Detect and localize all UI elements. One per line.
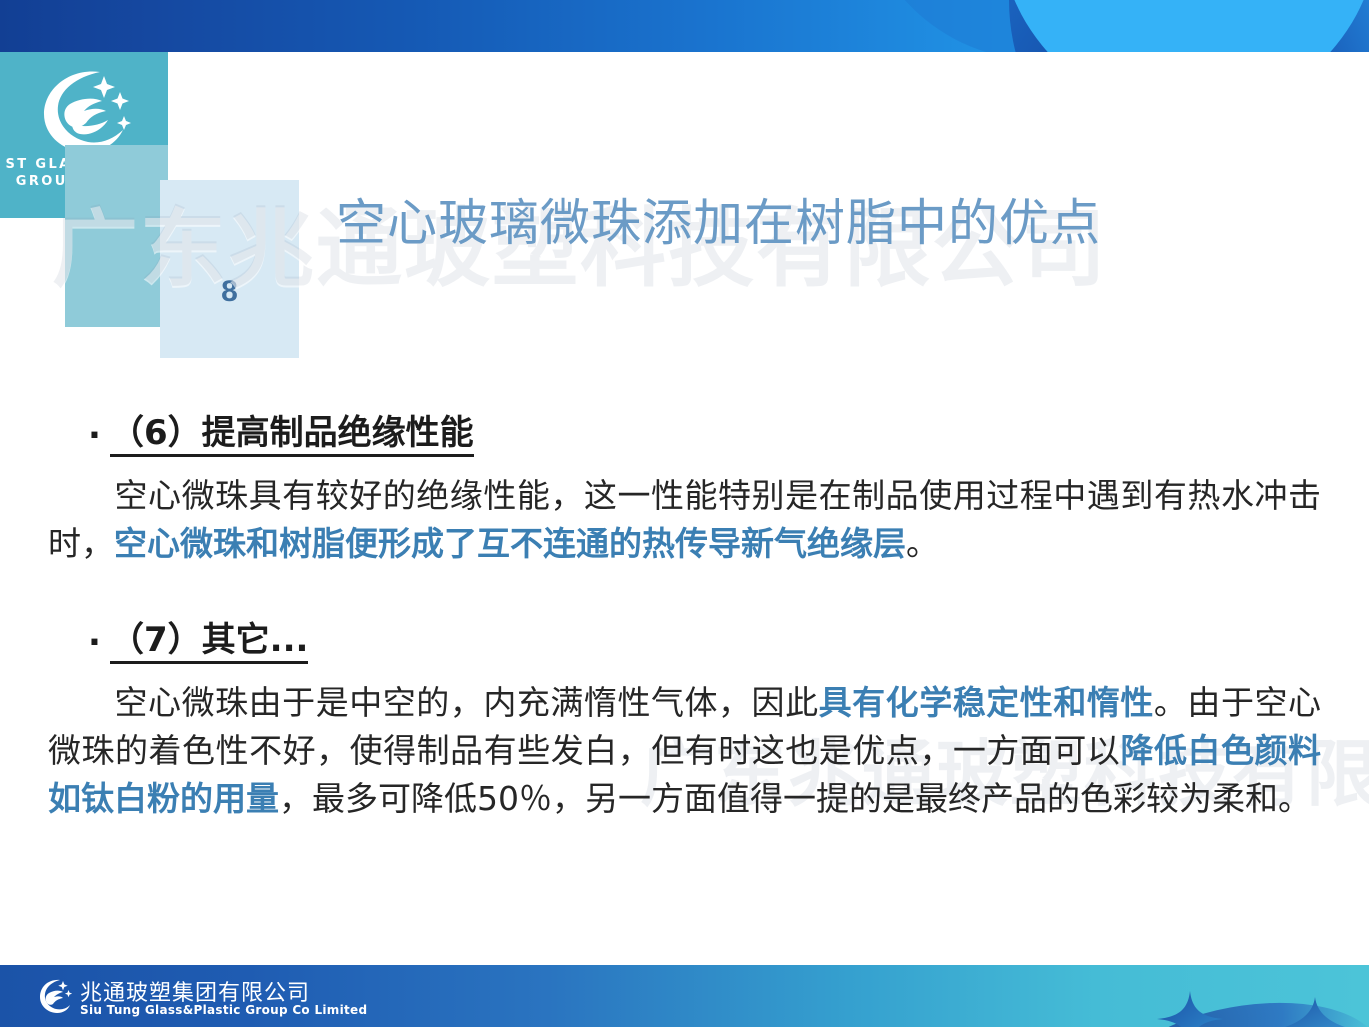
decor-block-pale bbox=[160, 180, 299, 358]
section-7-heading-text: （7）其它... bbox=[110, 620, 308, 664]
section-7-run1: 空心微珠由于是中空的，内充满惰性气体，因此 bbox=[114, 683, 819, 722]
section-6-highlight: 空心微珠和树脂便形成了互不连通的热传导新气绝缘层 bbox=[114, 524, 906, 563]
decor-block-teal bbox=[65, 145, 168, 327]
footer-bar: 兆通玻塑集团有限公司 Siu Tung Glass&Plastic Group … bbox=[0, 965, 1369, 1027]
section-7-heading: . （7）其它... bbox=[110, 612, 308, 661]
footer-sparkle-icon-1 bbox=[1155, 991, 1225, 1027]
header-band bbox=[0, 0, 1369, 52]
page-number: 8 bbox=[160, 275, 299, 309]
section-7: . （7）其它... 空心微珠由于是中空的，内充满惰性气体，因此具有化学稳定性和… bbox=[0, 612, 1369, 823]
footer-company-en: Siu Tung Glass&Plastic Group Co Limited bbox=[80, 1003, 367, 1017]
section-6-bullet: . bbox=[88, 407, 101, 447]
glass-bead-crescent-icon bbox=[28, 68, 140, 154]
section-7-paragraph: 空心微珠由于是中空的，内充满惰性气体，因此具有化学稳定性和惰性。由于空心微珠的着… bbox=[48, 679, 1321, 823]
slide-canvas: ST GLASS BEADS GROUP HK LTD 8 广东兆通玻塑科技有限… bbox=[0, 0, 1369, 1027]
footer-logo-icon bbox=[36, 978, 72, 1014]
page-title: 空心玻璃微珠添加在树脂中的优点 bbox=[336, 183, 1101, 255]
section-6: . （6）提高制品绝缘性能 空心微珠具有较好的绝缘性能，这一性能特别是在制品使用… bbox=[0, 405, 1369, 568]
section-6-heading: . （6）提高制品绝缘性能 bbox=[110, 405, 474, 454]
section-7-run5: ，最多可降低50％，另一方面值得一提的是最终产品的色彩较为柔和。 bbox=[279, 779, 1311, 818]
section-6-run3: 。 bbox=[906, 524, 939, 563]
section-6-paragraph: 空心微珠具有较好的绝缘性能，这一性能特别是在制品使用过程中遇到有热水冲击时，空心… bbox=[48, 472, 1321, 568]
header-swoosh-front bbox=[999, 0, 1369, 52]
section-7-bullet: . bbox=[88, 614, 101, 654]
section-7-highlight-1: 具有化学稳定性和惰性 bbox=[819, 683, 1154, 722]
slide-body: . （6）提高制品绝缘性能 空心微珠具有较好的绝缘性能，这一性能特别是在制品使用… bbox=[0, 405, 1369, 823]
section-6-heading-text: （6）提高制品绝缘性能 bbox=[110, 413, 474, 457]
footer-sparkle-icon-2 bbox=[1270, 997, 1360, 1027]
